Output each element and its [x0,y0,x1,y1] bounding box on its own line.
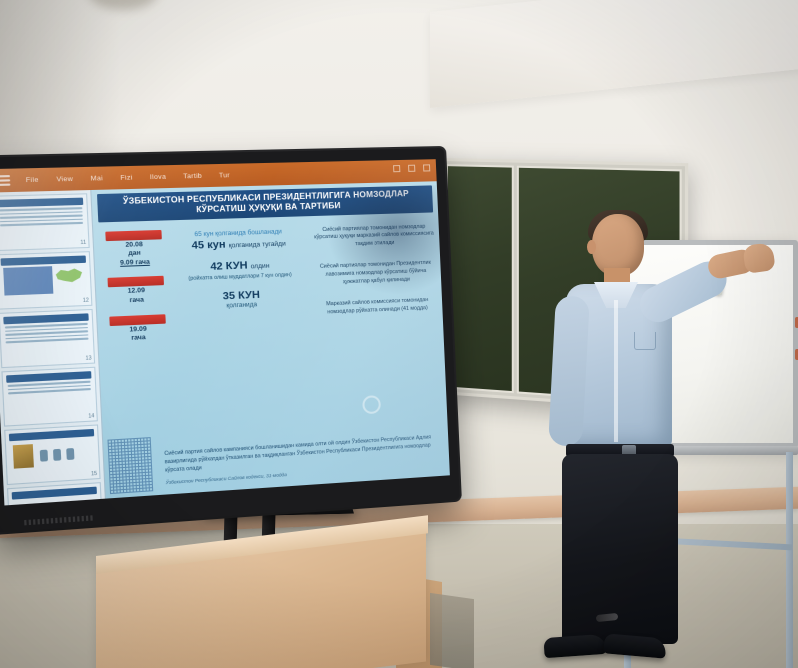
chalkboard-panel-left [446,164,514,393]
thumb-icon-row [40,448,75,462]
close-icon[interactable] [423,164,430,171]
thumbnail-slide[interactable]: 12 [0,251,92,310]
presenter-head [592,214,644,276]
thumb-title-band [0,198,83,208]
display-screen[interactable]: File View Mai Fizi Ilova Tartib Tur [0,159,450,505]
active-slide[interactable]: ЎЗБЕКИСТОН РЕСПУБЛИКАСИ ПРЕЗИДЕНТЛИГИГА … [91,181,450,498]
maximize-icon[interactable] [408,165,415,172]
thumb-blue-box [3,266,53,295]
milestone-row: 35 КУН қолганида [169,287,313,314]
date-block: 20.08 дан 9.09 гача [105,229,163,268]
whiteboard-leg [786,452,793,668]
milestone-column: 65 кун қолганида бошланади 45 кун қолган… [166,225,315,352]
menu-item-tur[interactable]: Tur [219,172,230,179]
date-line-2: гача [108,296,164,307]
date-text: 12.09 гача [108,287,165,307]
milestone-row: 42 КУН олдин (ройхатга олиш муддатлари 7… [167,257,311,283]
thumb-number: 13 [85,355,91,362]
thumb-lines [0,207,87,226]
thumb-title-band [9,429,94,441]
description-item: Сиёсий партиялар томонидан номзодлар кўр… [313,223,434,251]
slide-title: ЎЗБЕКИСТОН РЕСПУБЛИКАСИ ПРЕЗИДЕНТЛИГИГА … [97,185,433,222]
presenter-shirt-placket [614,300,618,442]
presenter-trousers [562,454,678,644]
thumbnail-slide[interactable]: 15 [4,424,100,485]
date-bar [105,229,162,240]
menu-item-file[interactable]: File [26,176,39,184]
thumb-lines [3,380,95,394]
thumb-icon-row [43,505,91,506]
thumb-number: 14 [88,413,94,420]
menu-item-ilova[interactable]: Ilova [150,173,167,181]
slide-content-grid: 20.08 дан 9.09 гача 12.09 гач [99,221,439,355]
milestone-number-value: 42 КУН [210,259,248,273]
thumbnail-slide[interactable]: 11 [0,193,90,251]
thumb-title-band [0,255,86,265]
classroom-scene: File View Mai Fizi Ilova Tartib Tur [0,0,798,668]
thumb-title-band [12,487,97,500]
description-column: Сиёсий партиялар томонидан номзодлар кўр… [313,221,438,344]
date-block: 19.09 гача [109,314,166,345]
minimize-icon[interactable] [393,165,400,172]
thumbnail-slide[interactable]: 13 [0,309,95,368]
milestone-row: 65 кун қолганида бошланади 45 кун қолган… [166,227,311,253]
thumb-number: 11 [80,240,86,247]
halftone-pattern [107,437,153,494]
display-bezel: File View Mai Fizi Ilova Tartib Tur [0,148,460,533]
menu-item-mai[interactable]: Mai [90,174,103,182]
uzbekistan-map-icon [54,267,83,285]
lectern-shadow-panel [430,593,474,668]
presentation-display[interactable]: File View Mai Fizi Ilova Tartib Tur [0,148,460,533]
thumbnail-slide[interactable]: 16 [7,482,103,505]
menu-item-tartib[interactable]: Tartib [183,172,202,180]
menu-item-fizi[interactable]: Fizi [120,174,133,182]
date-line-2: гача [110,333,166,345]
presenter [530,214,720,668]
milestone-line-b: қолганида тугайди [229,241,286,250]
date-line-3: 9.09 гача [107,258,164,269]
menu-item-view[interactable]: View [56,175,73,183]
thumbnail-slide[interactable]: 14 [1,367,97,427]
passport-photo-icon [13,444,34,469]
app-body: 11 12 13 [0,181,450,505]
presenter-ear [587,240,596,254]
thumb-number: 12 [83,298,89,305]
thumb-number: 15 [91,471,97,478]
window-controls[interactable] [393,164,430,172]
slide-thumbnails-pane[interactable]: 11 12 13 [0,190,106,505]
description-item: Марказий сайлов комиссияси томонидан ном… [317,297,438,318]
milestone-suffix: олдин [251,263,270,271]
milestone-number-value: 45 кун [191,238,225,252]
slide-footer: Сиёсий партия сайлов кампанияси бошланиш… [164,433,439,487]
menu-bar[interactable]: File View Mai Fizi Ilova Tartib Tur [26,172,230,184]
date-text: 20.08 дан 9.09 гача [106,240,163,269]
presenter-shirt-pocket [634,332,656,350]
thumb-lines [0,323,93,343]
date-column: 20.08 дан 9.09 гача 12.09 гач [99,229,167,354]
description-item: Сиёсий партиялар томонидан Президентлик … [315,260,436,289]
presenter-shoe [543,634,606,658]
date-text: 19.09 гача [110,324,167,345]
date-block: 12.09 гача [107,276,164,307]
menu-icon[interactable] [0,175,10,186]
display-speaker-grille [24,515,93,525]
decorative-circle [362,395,381,414]
